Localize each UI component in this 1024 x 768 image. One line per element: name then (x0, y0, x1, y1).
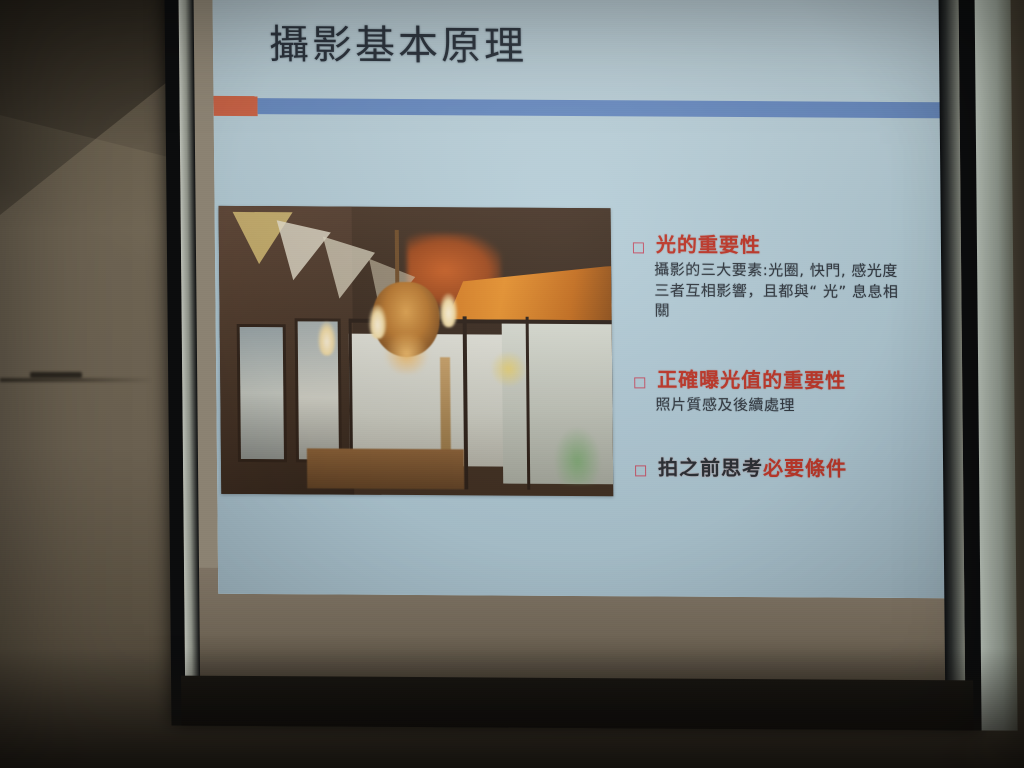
room-floor-shadow (0, 648, 1024, 768)
bullet-1-sub: 攝影的三大要素:光圈, 快門, 感光度 三者互相影響，且都與“ 光” 息息相 關 (654, 259, 940, 323)
bullet-1-head: 光的重要性 (633, 232, 939, 259)
screen-surface: 攝影基本原理 (178, 0, 965, 684)
divider-blue-bar (258, 98, 942, 118)
wall-molding-bracket (30, 372, 82, 378)
bullet-2-sub-line: 照片質感及後續處理 (655, 395, 940, 417)
bullet-1-sub-line: 三者互相影響，且都與“ 光” 息息相 (654, 280, 939, 302)
slide-title: 攝影基本原理 (269, 12, 528, 72)
bullet-item-1: 光的重要性 攝影的三大要素:光圈, 快門, 感光度 三者互相影響，且都與“ 光”… (633, 232, 940, 323)
bullet-1-sub-line: 關 (654, 301, 939, 323)
bullet-3-head: 拍之前思考必要條件 (635, 455, 941, 482)
photo-chandelier-glow (380, 334, 431, 375)
bullet-3-title: 拍之前思考必要條件 (658, 455, 847, 481)
bullet-1-sub-line: 攝影的三大要素:光圈, 快門, 感光度 (654, 259, 939, 281)
bullet-3-title-dark: 拍之前思考 (658, 455, 763, 480)
screenshot-stage: 攝影基本原理 (0, 0, 1024, 768)
photo-lamp-shade (490, 351, 526, 386)
photo-candle-flame (368, 305, 386, 339)
bullet-item-3: 拍之前思考必要條件 (635, 455, 941, 482)
divider-accent-square (213, 96, 257, 116)
photo-candle-flame (439, 294, 457, 328)
bullet-2-head: 正確曝光值的重要性 (634, 367, 940, 394)
bullet-2-title: 正確曝光值的重要性 (657, 368, 846, 394)
bullet-square-icon (634, 377, 645, 388)
slide-photo (219, 206, 614, 496)
bullet-square-icon (635, 465, 646, 476)
photo-table (307, 448, 464, 489)
bullet-3-title-red: 必要條件 (763, 456, 847, 481)
projector-screen: 攝影基本原理 (164, 0, 983, 730)
title-divider (213, 94, 941, 120)
bullet-square-icon (633, 242, 644, 253)
presentation-slide: 攝影基本原理 (212, 0, 946, 598)
bullet-2-sub: 照片質感及後續處理 (655, 395, 940, 417)
slide-bullet-list: 光的重要性 攝影的三大要素:光圈, 快門, 感光度 三者互相影響，且都與“ 光”… (633, 232, 942, 500)
screen-right-reflection (974, 0, 1017, 731)
wall-molding-line (0, 378, 150, 382)
photo-plant (554, 427, 602, 485)
photo-candle-flame (318, 322, 336, 356)
bullet-item-2: 正確曝光值的重要性 照片質感及後續處理 (634, 367, 940, 417)
photo-chandelier-rod (395, 230, 400, 288)
bullet-1-title: 光的重要性 (656, 233, 761, 259)
